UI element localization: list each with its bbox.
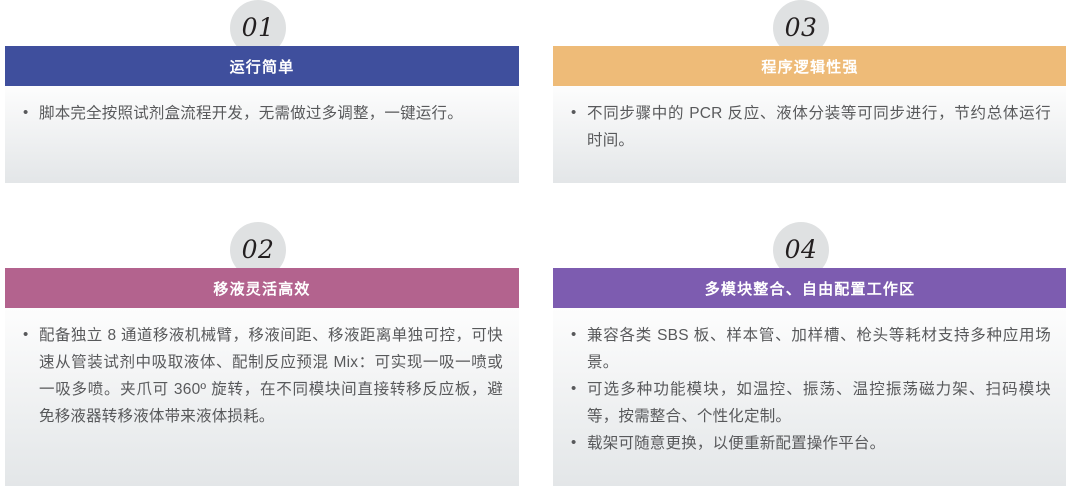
card-body-03: 不同步骤中的 PCR 反应、液体分装等可同步进行，节约总体运行时间。 [553, 86, 1066, 183]
card-body-04: 兼容各类 SBS 板、样本管、加样槽、枪头等耗材支持多种应用场景。 可选多种功能… [553, 308, 1066, 486]
card-header-03: 程序逻辑性强 [553, 46, 1066, 86]
list-item: 载架可随意更换，以便重新配置操作平台。 [569, 430, 1051, 457]
list-item: 兼容各类 SBS 板、样本管、加样槽、枪头等耗材支持多种应用场景。 [569, 322, 1051, 376]
card-bullet-list-03: 不同步骤中的 PCR 反应、液体分装等可同步进行，节约总体运行时间。 [569, 100, 1051, 154]
list-item: 不同步骤中的 PCR 反应、液体分装等可同步进行，节约总体运行时间。 [569, 100, 1051, 154]
card-number-label: 01 [242, 13, 275, 42]
feature-cards-board: 01 运行简单 脚本完全按照试剂盒流程开发，无需做过多调整，一键运行。 03 程… [0, 0, 1066, 486]
card-bullet-list-01: 脚本完全按照试剂盒流程开发，无需做过多调整，一键运行。 [21, 100, 503, 127]
card-number-label: 02 [242, 235, 275, 264]
card-title: 运行简单 [230, 56, 295, 77]
card-title: 程序逻辑性强 [761, 56, 858, 77]
list-item: 脚本完全按照试剂盒流程开发，无需做过多调整，一键运行。 [21, 100, 503, 127]
card-bullet-list-04: 兼容各类 SBS 板、样本管、加样槽、枪头等耗材支持多种应用场景。 可选多种功能… [569, 322, 1051, 457]
card-title: 多模块整合、自由配置工作区 [705, 278, 916, 299]
card-number-label: 03 [785, 13, 818, 42]
card-header-02: 移液灵活高效 [5, 268, 519, 308]
card-header-04: 多模块整合、自由配置工作区 [553, 268, 1066, 308]
card-title: 移液灵活高效 [213, 278, 310, 299]
list-item: 可选多种功能模块，如温控、振荡、温控振荡磁力架、扫码模块等，按需整合、个性化定制… [569, 376, 1051, 430]
list-item: 配备独立 8 通道移液机械臂，移液间距、移液距离单独可控，可快速从管装试剂中吸取… [21, 322, 503, 430]
card-body-02: 配备独立 8 通道移液机械臂，移液间距、移液距离单独可控，可快速从管装试剂中吸取… [5, 308, 519, 486]
card-body-01: 脚本完全按照试剂盒流程开发，无需做过多调整，一键运行。 [5, 86, 519, 183]
card-number-label: 04 [785, 235, 818, 264]
card-bullet-list-02: 配备独立 8 通道移液机械臂，移液间距、移液距离单独可控，可快速从管装试剂中吸取… [21, 322, 503, 430]
card-header-01: 运行简单 [5, 46, 519, 86]
